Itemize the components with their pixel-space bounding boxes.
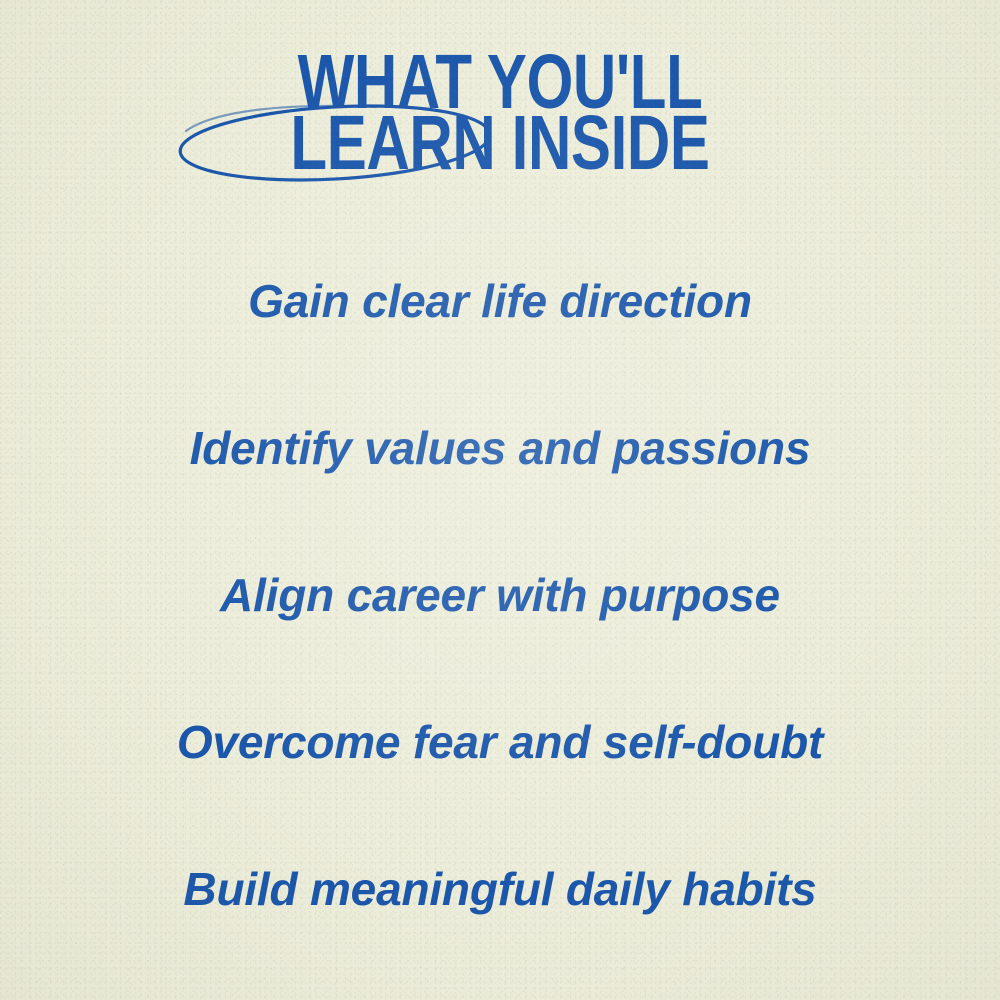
poster-canvas: WHAT YOU'LL LEARN INSIDE Gain clear life…	[0, 0, 1000, 1000]
page-title: WHAT YOU'LL LEARN INSIDE	[0, 44, 1000, 167]
list-item: Build meaningful daily habits	[0, 816, 1000, 963]
list-item: Identify values and passions	[0, 375, 1000, 522]
benefit-label-3: Align career with purpose	[220, 570, 780, 621]
benefit-label-5: Build meaningful daily habits	[183, 864, 816, 915]
headline-line-1: WHAT YOU'LL	[110, 44, 890, 104]
list-item: Align career with purpose	[0, 522, 1000, 669]
headline-line-2: LEARN INSIDE	[110, 105, 890, 167]
benefits-list: Gain clear life direction Identify value…	[0, 228, 1000, 963]
benefit-label-2: Identify values and passions	[190, 423, 811, 474]
list-item: Overcome fear and self-doubt	[0, 669, 1000, 816]
benefit-label-1: Gain clear life direction	[248, 276, 752, 327]
benefit-label-4: Overcome fear and self-doubt	[177, 717, 823, 768]
list-item: Gain clear life direction	[0, 228, 1000, 375]
